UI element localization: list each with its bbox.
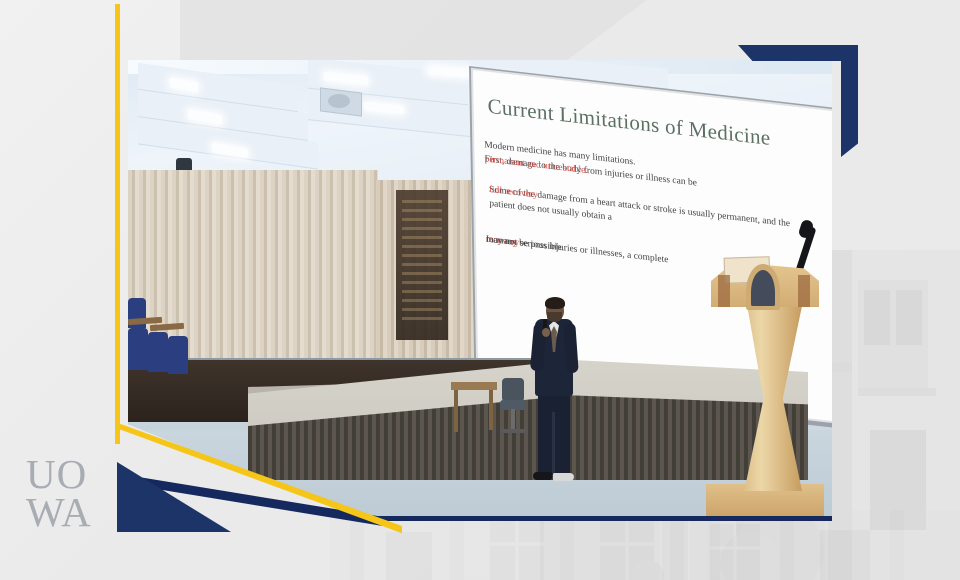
podium-inlay-left — [718, 275, 730, 307]
chair-base — [500, 429, 526, 433]
yellow-accent-line-vertical — [115, 4, 120, 444]
ceiling-speaker-dome — [328, 94, 350, 108]
speaker-trouser-gap — [552, 412, 555, 474]
auditorium-seat — [168, 336, 188, 374]
speaker-hair — [545, 297, 565, 309]
bracket-vertical — [841, 45, 858, 157]
auditorium-seat — [128, 328, 148, 370]
side-table-leg — [454, 390, 458, 432]
photo-navy-baseline — [370, 516, 832, 521]
bracket-horizontal — [738, 45, 858, 61]
university-logo: UO WA — [26, 456, 112, 536]
university-emblem-icon — [751, 270, 775, 306]
speaker-shoe-left — [533, 472, 552, 480]
logo-line-2: WA — [26, 494, 112, 532]
chair-post — [511, 409, 515, 431]
podium-inlay-right — [798, 275, 810, 307]
speaker-beard — [547, 312, 562, 322]
door-ornament — [402, 200, 442, 320]
auditorium-seat — [148, 332, 168, 372]
poster-canvas: Current Limitations of Medicine Modern m… — [0, 0, 960, 580]
side-table — [451, 382, 497, 390]
speaker-shoe-right — [553, 473, 574, 481]
navy-corner-bracket — [738, 45, 858, 157]
slide-bullet-4-tail: may not be possible. — [486, 233, 564, 256]
speaker-hand — [542, 328, 550, 337]
side-table-leg — [489, 390, 493, 430]
chair-backrest — [502, 378, 524, 402]
